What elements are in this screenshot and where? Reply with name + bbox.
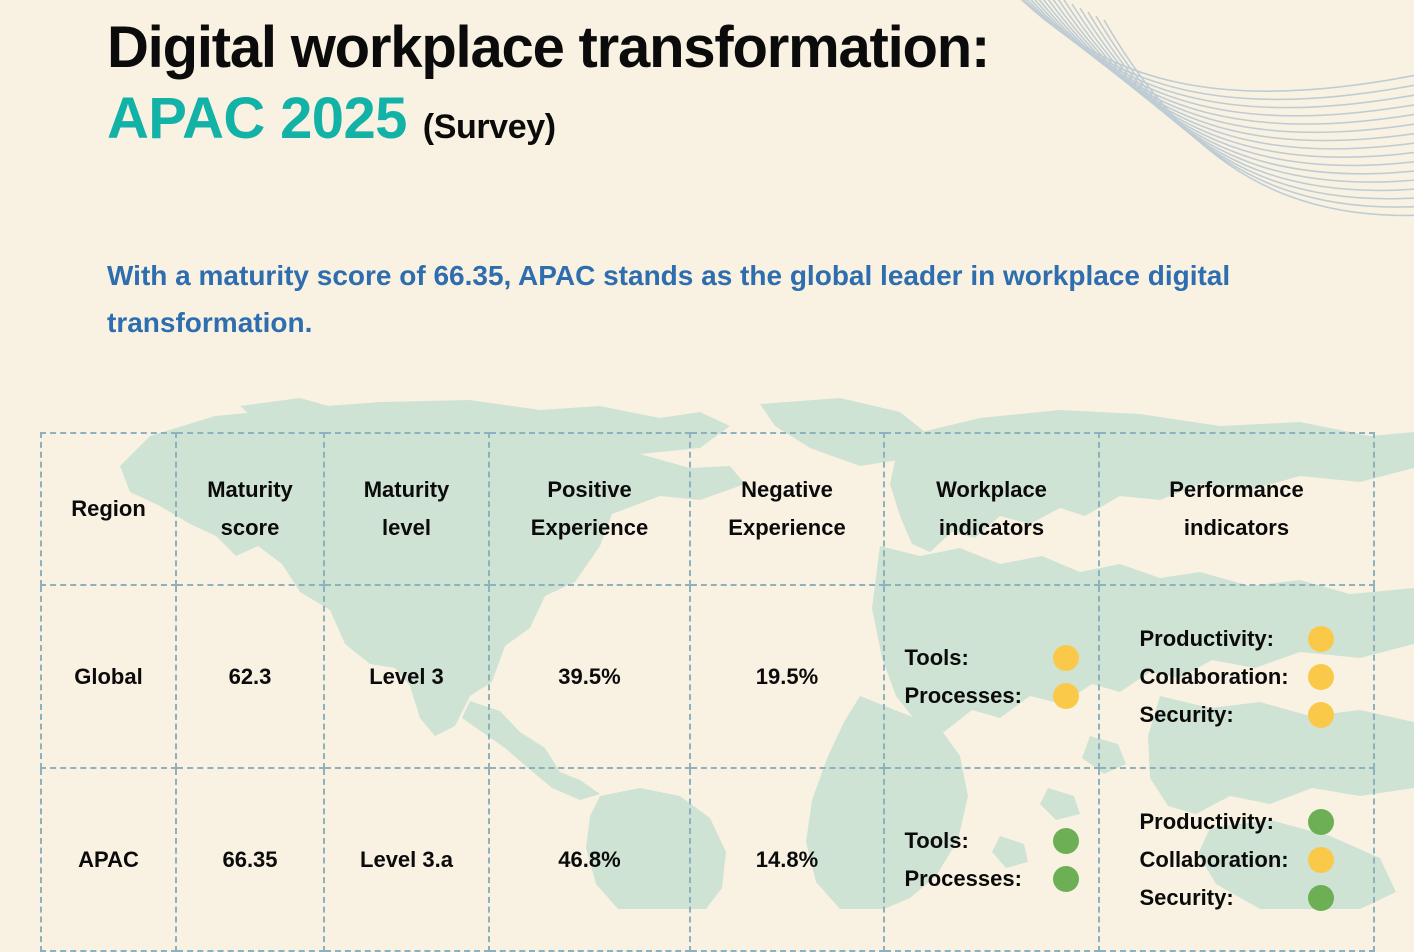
cell-region: APAC bbox=[41, 768, 176, 951]
cell-positive-experience: 46.8% bbox=[489, 768, 690, 951]
column-header-maturity-score: Maturity score bbox=[176, 433, 324, 585]
status-dot-yellow-icon bbox=[1308, 847, 1334, 873]
table-header-row: Region Maturity score Maturity level Pos… bbox=[41, 433, 1374, 585]
page-title-line2: APAC 2025(Survey) bbox=[107, 89, 1307, 150]
status-dot-yellow-icon bbox=[1308, 702, 1334, 728]
cell-workplace-indicators: Tools: Processes: bbox=[884, 585, 1099, 768]
workplace-indicator-processes: Processes: bbox=[905, 677, 1079, 715]
table-header: Region Maturity score Maturity level Pos… bbox=[41, 433, 1374, 585]
column-header-region: Region bbox=[41, 433, 176, 585]
workplace-indicator-processes: Processes: bbox=[905, 860, 1079, 898]
performance-indicator-collaboration: Collaboration: bbox=[1140, 658, 1334, 696]
table-body: Global 62.3 Level 3 39.5% 19.5% Tools: P… bbox=[41, 585, 1374, 951]
cell-maturity-level: Level 3.a bbox=[324, 768, 489, 951]
status-dot-yellow-icon bbox=[1053, 645, 1079, 671]
column-header-negative-experience: Negative Experience bbox=[690, 433, 884, 585]
page-title-line1: Digital workplace transformation: bbox=[107, 16, 1307, 81]
status-dot-yellow-icon bbox=[1308, 664, 1334, 690]
cell-maturity-level: Level 3 bbox=[324, 585, 489, 768]
performance-indicator-security: Security: bbox=[1140, 696, 1334, 734]
workplace-indicator-tools: Tools: bbox=[905, 639, 1079, 677]
column-header-maturity-level: Maturity level bbox=[324, 433, 489, 585]
survey-table-container: Region Maturity score Maturity level Pos… bbox=[40, 432, 1373, 952]
status-dot-green-icon bbox=[1053, 866, 1079, 892]
status-dot-yellow-icon bbox=[1053, 683, 1079, 709]
cell-negative-experience: 19.5% bbox=[690, 585, 884, 768]
table-row: Global 62.3 Level 3 39.5% 19.5% Tools: P… bbox=[41, 585, 1374, 768]
column-header-performance-indicators: Performance indicators bbox=[1099, 433, 1374, 585]
status-dot-green-icon bbox=[1053, 828, 1079, 854]
survey-table: Region Maturity score Maturity level Pos… bbox=[40, 432, 1375, 952]
status-dot-yellow-icon bbox=[1308, 626, 1334, 652]
performance-indicator-productivity: Productivity: bbox=[1140, 803, 1334, 841]
cell-performance-indicators: Productivity: Collaboration: Security: bbox=[1099, 768, 1374, 951]
performance-indicator-productivity: Productivity: bbox=[1140, 620, 1334, 658]
cell-maturity-score: 62.3 bbox=[176, 585, 324, 768]
table-row: APAC 66.35 Level 3.a 46.8% 14.8% Tools: … bbox=[41, 768, 1374, 951]
page-title-suffix: (Survey) bbox=[423, 108, 556, 146]
workplace-indicator-tools: Tools: bbox=[905, 822, 1079, 860]
status-dot-green-icon bbox=[1308, 809, 1334, 835]
cell-positive-experience: 39.5% bbox=[489, 585, 690, 768]
page-subtitle: With a maturity score of 66.35, APAC sta… bbox=[107, 252, 1287, 346]
performance-indicator-security: Security: bbox=[1140, 879, 1334, 917]
cell-performance-indicators: Productivity: Collaboration: Security: bbox=[1099, 585, 1374, 768]
column-header-workplace-indicators: Workplace indicators bbox=[884, 433, 1099, 585]
status-dot-green-icon bbox=[1308, 885, 1334, 911]
cell-workplace-indicators: Tools: Processes: bbox=[884, 768, 1099, 951]
page-title-highlight: APAC 2025 bbox=[107, 86, 407, 151]
page-header: Digital workplace transformation: APAC 2… bbox=[107, 16, 1307, 150]
cell-negative-experience: 14.8% bbox=[690, 768, 884, 951]
cell-maturity-score: 66.35 bbox=[176, 768, 324, 951]
performance-indicator-collaboration: Collaboration: bbox=[1140, 841, 1334, 879]
column-header-positive-experience: Positive Experience bbox=[489, 433, 690, 585]
cell-region: Global bbox=[41, 585, 176, 768]
